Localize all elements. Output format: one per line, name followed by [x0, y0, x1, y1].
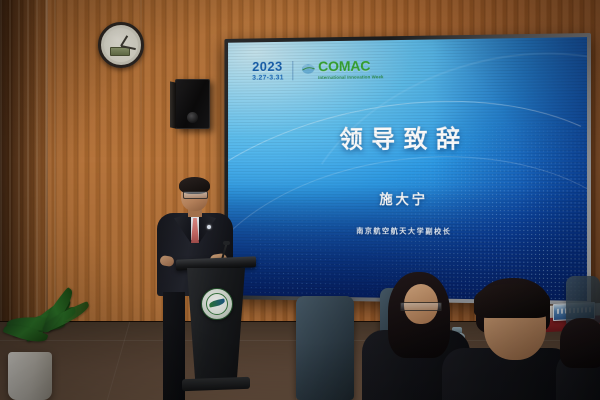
podium-body — [187, 268, 245, 380]
chair-back — [296, 296, 354, 400]
wall-mounted-loudspeaker — [175, 79, 210, 129]
header-divider — [292, 61, 293, 80]
floor-tile-line — [107, 322, 130, 400]
slide-year: 2023 — [252, 60, 284, 74]
conference-room-photo: 2023 3.27-3.31 COMAC — [0, 0, 600, 400]
wall-slat-highlights — [0, 0, 60, 330]
comac-wordmark: COMAC International Innovation Week — [318, 59, 383, 81]
comac-cloud-icon — [301, 62, 315, 76]
comac-subtitle: International Innovation Week — [318, 75, 383, 81]
podium-emblem — [201, 288, 233, 320]
slide-header: 2023 3.27-3.31 COMAC — [252, 58, 383, 81]
microphone-head — [223, 241, 230, 245]
slide-title: 领导致辞 — [228, 119, 587, 156]
attendee-glasses — [400, 302, 442, 311]
led-presentation-screen: 2023 3.27-3.31 COMAC — [224, 33, 591, 305]
comac-name: COMAC — [318, 59, 383, 74]
attendee-hair-overlay — [474, 284, 550, 318]
comac-logo: COMAC International Innovation Week — [301, 59, 383, 81]
podium-base — [182, 377, 250, 391]
presenter-lapel-pin — [207, 225, 211, 229]
slide-speaker-name: 施大宁 — [228, 189, 587, 210]
screen-surface: 2023 3.27-3.31 COMAC — [228, 37, 587, 301]
slide-date-block: 2023 3.27-3.31 — [252, 60, 284, 82]
presenter-glasses — [183, 191, 208, 199]
speaker-cone — [187, 112, 198, 123]
slide-dates: 3.27-3.31 — [252, 74, 284, 82]
speaker-side-panel — [170, 81, 176, 128]
lectern-podium — [185, 258, 247, 400]
plant-pot — [8, 352, 52, 400]
analog-wall-clock — [98, 22, 144, 68]
